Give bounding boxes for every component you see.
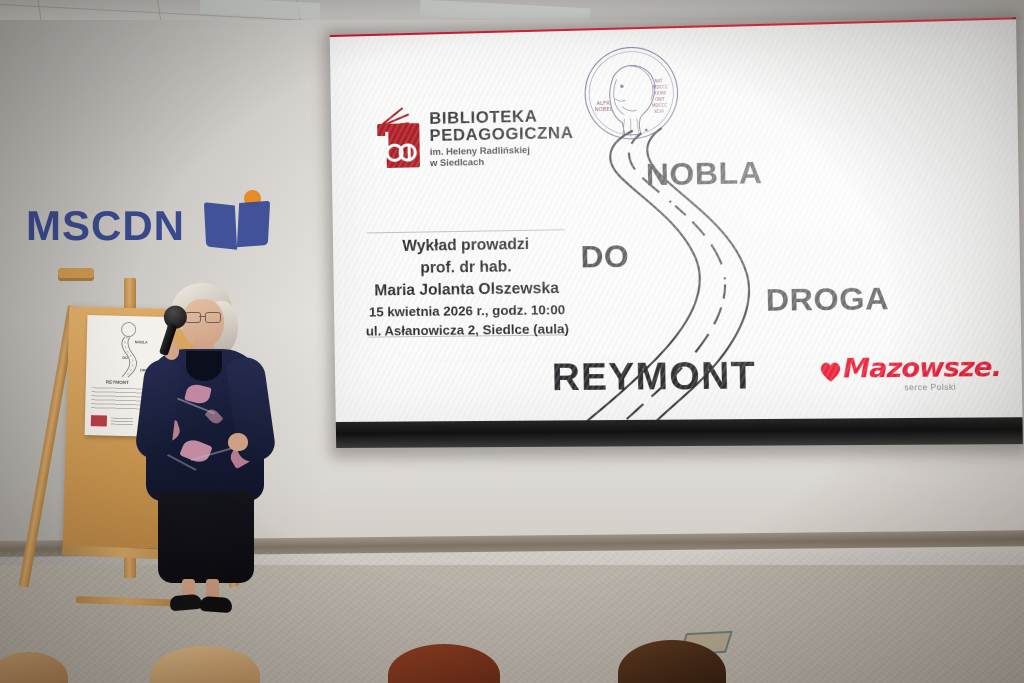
black-skirt (158, 491, 254, 583)
shoe-left (169, 594, 202, 612)
presenter (140, 283, 270, 606)
letter-p-stem (408, 145, 411, 161)
neckline (186, 351, 222, 381)
word-droga: DROGA (765, 280, 889, 318)
poster-library-logo (91, 415, 107, 426)
svg-text:MDCCC: MDCCC (653, 84, 669, 89)
mazowsze-tagline: serce Polski (904, 383, 956, 393)
mazowsze-wordmark: Mazowsze. (843, 352, 1001, 384)
svg-text:OBIT: OBIT (655, 96, 665, 101)
face (182, 299, 224, 347)
hand-right (228, 433, 248, 451)
svg-text:NAT: NAT (655, 78, 664, 83)
word-reymont: REYMONT (552, 355, 757, 401)
poster-word-reymont: REYMONT (106, 380, 129, 386)
svg-text:NOBEL: NOBEL (595, 107, 613, 113)
bp-monogram-icon (373, 113, 422, 168)
svg-text:XCVI: XCVI (654, 109, 663, 114)
mazowsze-logo: Mazowsze. serce Polski (818, 352, 987, 399)
word-do: DO (580, 238, 629, 275)
book-page-right (237, 201, 270, 247)
screen-bottom-band (336, 417, 1023, 448)
easel-top-clamp (58, 268, 94, 281)
heart-icon (818, 360, 843, 383)
book-page-left (204, 202, 237, 250)
projection-screen: BIBLIOTEKA PEDAGOGICZNA im. Heleny Radli… (330, 17, 1023, 450)
svg-text:XXXIII: XXXIII (654, 90, 666, 95)
open-book-icon (205, 190, 275, 248)
word-nobla: NOBLA (646, 155, 763, 194)
eyeglasses-icon (185, 312, 221, 321)
presentation-slide: BIBLIOTEKA PEDAGOGICZNA im. Heleny Radli… (330, 19, 1023, 422)
svg-text:MDCCC: MDCCC (652, 103, 668, 108)
photo-scene: MSCDN (0, 0, 1024, 683)
poster-secondary-logo (111, 418, 133, 426)
shoe-right (200, 596, 233, 613)
mscdn-wall-logo: MSCDN (20, 188, 280, 260)
logo-line-4: w Siedlcach (430, 156, 484, 169)
mscdn-wordmark: MSCDN (26, 202, 185, 250)
poster-word-do: DO (122, 356, 127, 360)
